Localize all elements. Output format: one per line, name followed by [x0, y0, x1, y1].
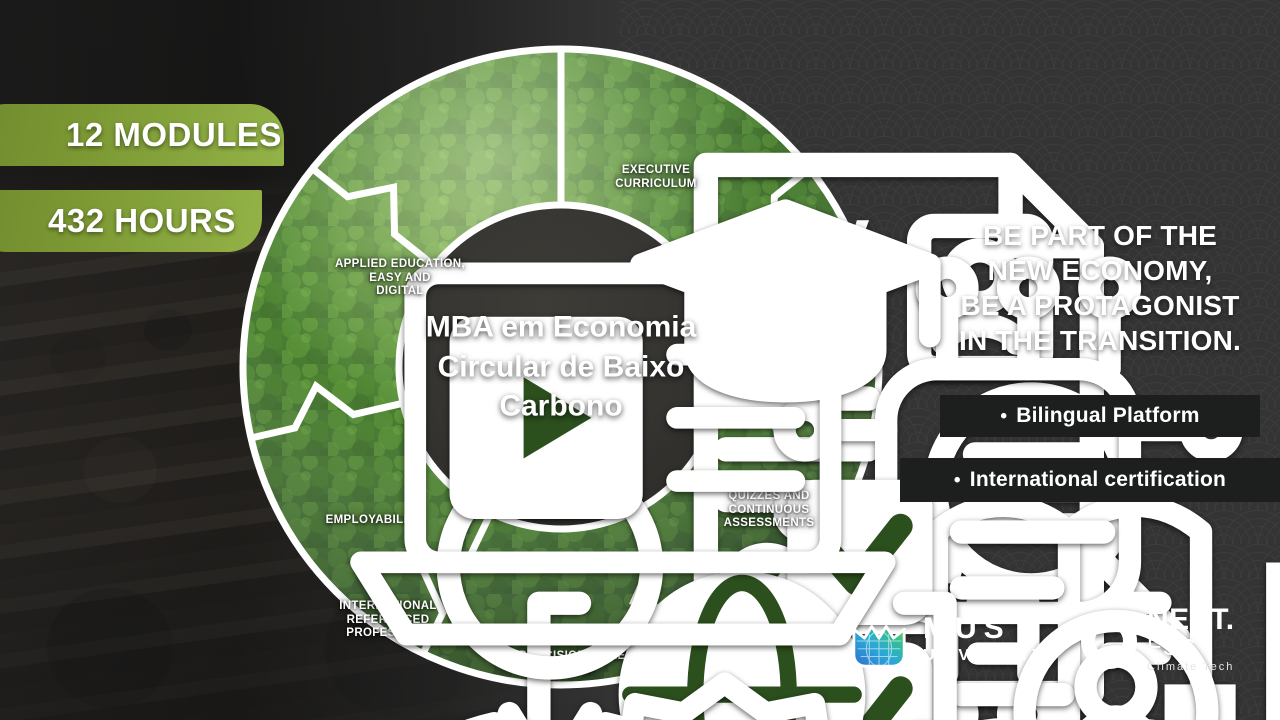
badge-hours-label: 432 HOURS	[48, 202, 236, 240]
next-esg-logo: NEXT. ESG Climate Tech	[1081, 605, 1235, 676]
must-wordmark: MUST UNIVERSITY	[923, 614, 1045, 667]
must-globe-icon	[848, 610, 910, 672]
next-ring-icon	[1081, 613, 1137, 669]
must-subtitle: UNIVERSITY	[923, 644, 1045, 667]
logo-row: MUST UNIVERSITY NEXT. ESG Climate Tech	[848, 600, 1268, 682]
must-university-logo: MUST UNIVERSITY	[848, 610, 1045, 672]
badge-hours: 432 HOURS	[0, 190, 262, 252]
pill-bilingual-platform: • Bilingual Platform	[940, 395, 1260, 437]
next-subtitle: ESG	[1147, 635, 1235, 659]
pill-international-certification: • International certification	[900, 458, 1280, 502]
pill-bilingual-label: Bilingual Platform	[1016, 404, 1199, 428]
headline: BE PART OF THE NEW ECONOMY, BE A PROTAGO…	[930, 218, 1270, 358]
pill-certification-label: International certification	[970, 468, 1226, 492]
must-name: MUST	[923, 614, 1045, 644]
poster-canvas: 12 MODULES 432 HOURS	[0, 0, 1280, 720]
center-title: MBA em Economia Circular de Baixo Carbon…	[396, 308, 726, 427]
bullet-icon: •	[954, 471, 961, 490]
next-tagline: Climate Tech	[1147, 659, 1235, 677]
next-name: NEXT.	[1147, 605, 1235, 634]
bullet-icon: •	[1000, 407, 1007, 426]
circular-diagram: CV EXECUTIVE CURRICULUM	[236, 42, 886, 692]
next-wordmark: NEXT. ESG Climate Tech	[1147, 605, 1235, 676]
